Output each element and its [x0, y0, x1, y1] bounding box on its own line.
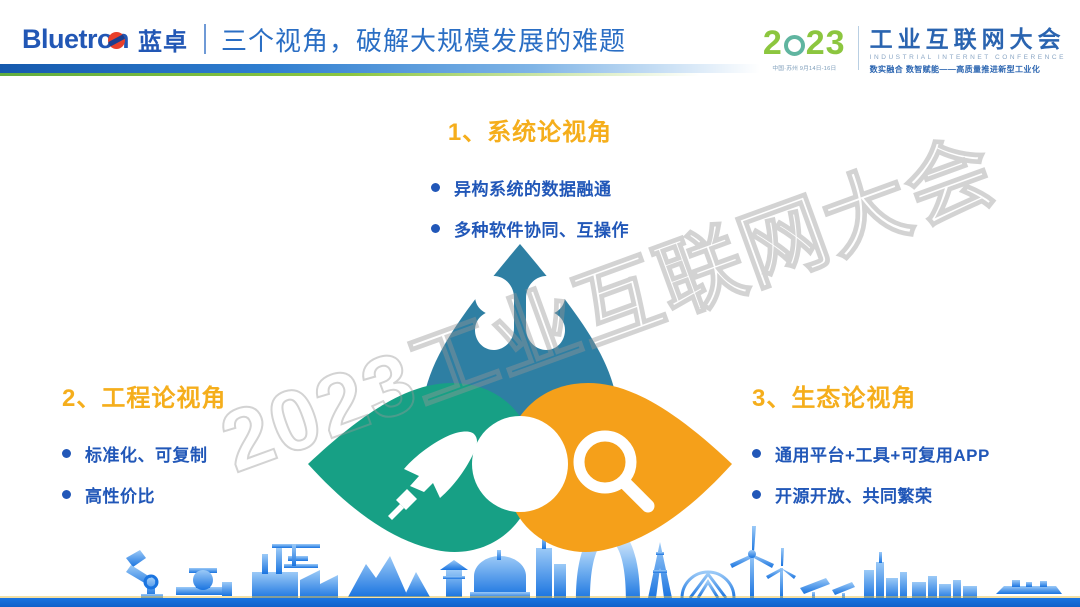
conference-title-cn: 工业互联网大会	[870, 27, 1066, 52]
section-heading-ecology-theory: 3、生态论视角	[752, 378, 990, 413]
bullet-list-system-theory: 异构系统的数据融通 多种软件协同、互操作	[431, 175, 629, 257]
section-heading-system-theory: 1、系统论视角	[380, 112, 680, 147]
three-petal-diagram	[300, 236, 740, 556]
bullet-label: 高性价比	[85, 482, 155, 507]
bullet-list-engineering-theory: 标准化、可复制 高性价比	[62, 441, 226, 507]
conference-text-block: 工业互联网大会 INDUSTRIAL INTERNET CONFERENCE 数…	[870, 26, 1066, 75]
bullet-label: 异构系统的数据融通	[454, 175, 612, 200]
conference-subtitle-en: INDUSTRIAL INTERNET CONFERENCE	[870, 54, 1066, 61]
city-cluster-icon	[864, 552, 977, 599]
planet-icon	[108, 32, 125, 49]
header-gradient-bar	[0, 64, 760, 73]
zero-ring-icon	[784, 35, 805, 56]
logo-divider	[204, 24, 206, 54]
section-system-theory: 1、系统论视角 异构系统的数据融通 多种软件协同、互操作	[380, 112, 680, 257]
brand-logo-text: Bluetron	[22, 24, 129, 55]
slide-header: Bluetron 蓝卓 三个视角，破解大规模发展的难题 223 中国·苏州 9月…	[0, 0, 1080, 88]
section-engineering-theory: 2、工程论视角 标准化、可复制 高性价比	[62, 378, 226, 523]
presentation-slide: Bluetron 蓝卓 三个视角，破解大规模发展的难题 223 中国·苏州 9月…	[0, 0, 1080, 607]
conference-subtitle-cn: 数实融合 数智赋能——高质量推进新型工业化	[870, 64, 1066, 75]
conference-date: 中国·苏州 9月14日-16日	[765, 63, 844, 72]
bullet-label: 标准化、可复制	[85, 441, 208, 466]
shore-line	[0, 596, 1080, 598]
bullet-label: 多种软件协同、互操作	[454, 216, 629, 241]
robot-arm-icon	[126, 550, 163, 599]
page-title: 三个视角，破解大规模发展的难题	[221, 21, 626, 58]
bullet-item: 通用平台+工具+可复用APP	[752, 441, 990, 466]
bullet-dot-icon	[752, 449, 761, 458]
solar-panel-icon	[800, 578, 855, 599]
bullet-dot-icon	[431, 183, 440, 192]
bullet-item: 标准化、可复制	[62, 441, 226, 466]
petal-diagram-svg	[300, 236, 740, 556]
bullet-dot-icon	[62, 490, 71, 499]
bullet-item: 高性价比	[62, 482, 226, 507]
bullet-label: 开源开放、共同繁荣	[775, 482, 933, 507]
conference-year: 223	[763, 26, 846, 60]
section-heading-engineering-theory: 2、工程论视角	[62, 378, 226, 413]
company-logo: Bluetron 蓝卓 三个视角，破解大规模发展的难题	[22, 22, 626, 56]
pagoda-icon	[440, 560, 468, 597]
arch-bridge-icon	[682, 572, 734, 598]
dome-building-icon	[470, 550, 530, 598]
section-ecology-theory: 3、生态论视角 通用平台+工具+可复用APP 开源开放、共同繁荣	[752, 378, 990, 523]
bullet-dot-icon	[752, 490, 761, 499]
bullet-item: 开源开放、共同繁荣	[752, 482, 990, 507]
header-green-line	[0, 73, 700, 76]
bullet-dot-icon	[431, 224, 440, 233]
bullet-item: 异构系统的数据融通	[431, 175, 629, 200]
bullet-dot-icon	[62, 449, 71, 458]
water-band	[0, 598, 1080, 607]
bullet-list-ecology-theory: 通用平台+工具+可复用APP 开源开放、共同繁荣	[752, 441, 990, 507]
bullet-item: 多种软件协同、互操作	[431, 216, 629, 241]
conference-logo: 223 中国·苏州 9月14日-16日 工业互联网大会 INDUSTRIAL I…	[763, 26, 1066, 78]
conference-logo-divider	[858, 26, 859, 70]
brand-logo-cn: 蓝卓	[138, 22, 188, 57]
center-hub-circle	[472, 416, 568, 512]
hill-icon	[348, 556, 430, 597]
wind-turbine-icon	[766, 548, 796, 598]
conference-year-block: 223 中国·苏州 9月14日-16日	[763, 26, 858, 72]
cargo-ship-icon	[996, 580, 1062, 594]
pipeline-icon	[176, 568, 232, 596]
bullet-label: 通用平台+工具+可复用APP	[775, 441, 990, 466]
